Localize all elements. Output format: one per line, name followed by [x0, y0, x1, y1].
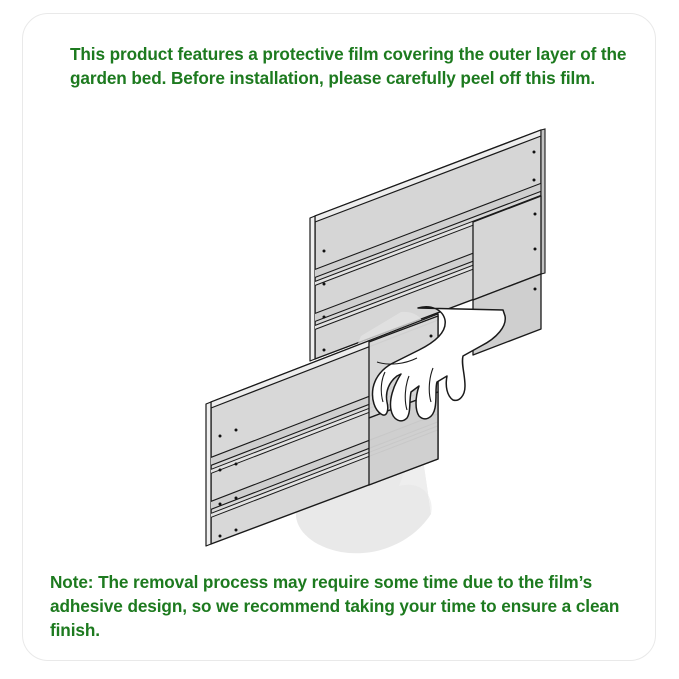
footer-note-text: Note: The removal process may require so…	[50, 570, 630, 643]
peeling-film-illustration	[163, 114, 563, 574]
instruction-card: This product features a protective film …	[22, 13, 656, 661]
upper-panel-left-edge	[310, 216, 315, 361]
lower-panel-left-edge	[206, 402, 211, 546]
intro-instruction-text: This product features a protective film …	[70, 42, 630, 90]
illustration-svg	[163, 114, 563, 574]
